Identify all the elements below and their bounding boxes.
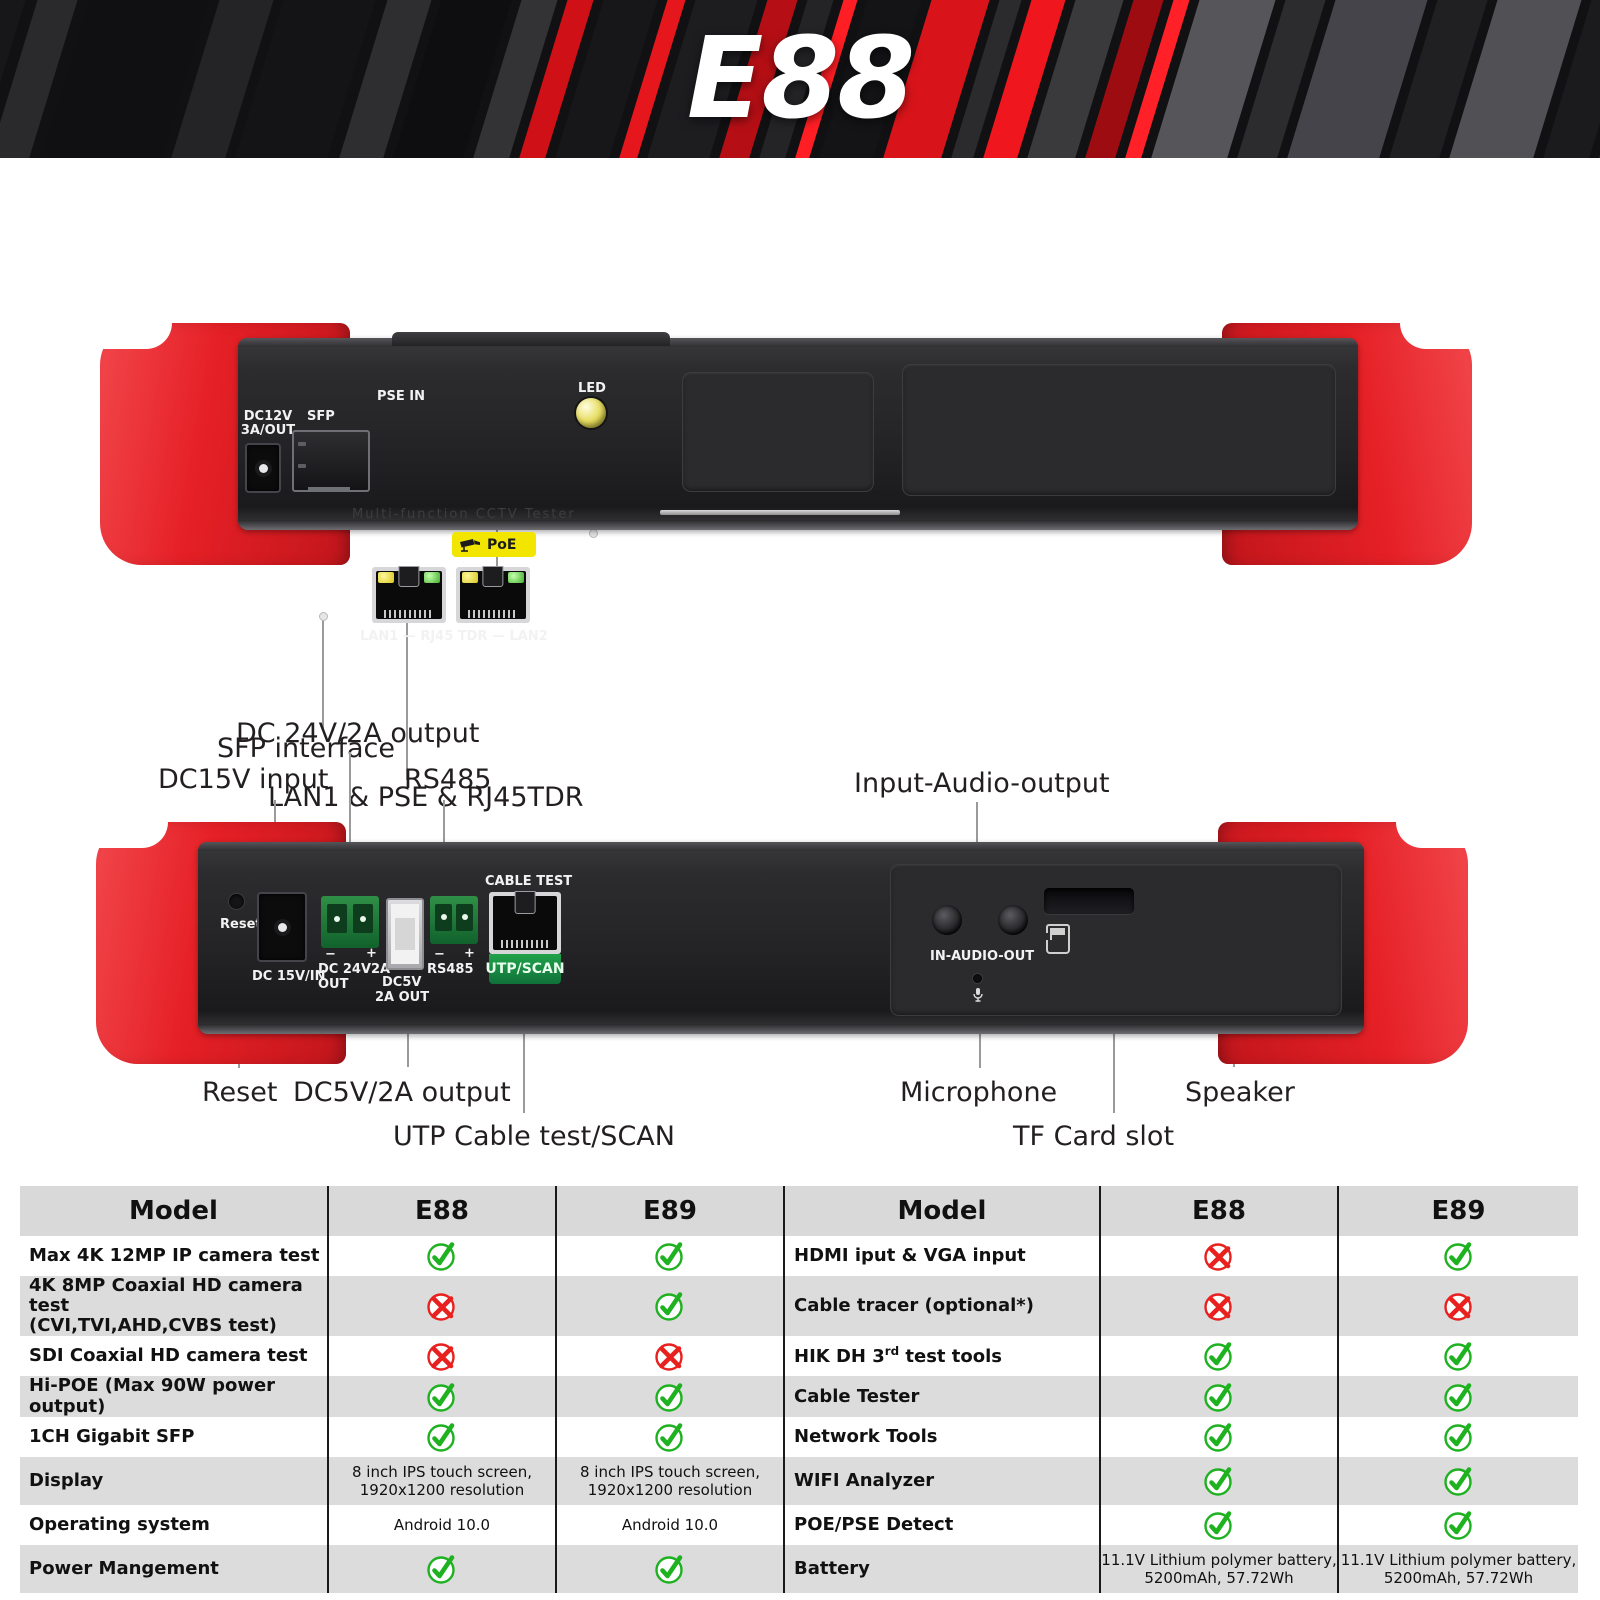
silk-dc15v: DC 15V/IN — [252, 970, 325, 984]
silk-dc5v-line1: DC5V — [382, 976, 421, 990]
table-row: 1CH Gigabit SFPNetwork Tools — [20, 1417, 1578, 1457]
lan1-rj45-port[interactable] — [372, 567, 446, 623]
table-cell-e88-right — [1100, 1457, 1338, 1505]
table-cell-e89-right — [1338, 1376, 1578, 1416]
callout-tf-card-slot: TF Card slot — [1013, 1121, 1174, 1152]
table-cell-e89-right — [1338, 1417, 1578, 1457]
table-cell-e88-right — [1100, 1236, 1338, 1276]
check-icon — [653, 1289, 687, 1323]
table-cell-e89-right — [1338, 1236, 1578, 1276]
silk-dc24v-line1: DC 24V2A — [318, 963, 390, 977]
silk-lan-row: LAN1 — RJ45 TDR — LAN2 — [360, 630, 542, 644]
lan2-led-green — [508, 572, 524, 583]
table-body: Max 4K 12MP IP camera testHDMI iput & VG… — [20, 1236, 1578, 1593]
silk-dc24v-minus: − — [325, 948, 336, 962]
table-cell-feature-left: Power Mangement — [20, 1545, 328, 1593]
check-icon — [653, 1380, 687, 1414]
table-cell-e89-right — [1338, 1457, 1578, 1505]
dc24v-terminal-block[interactable] — [321, 896, 379, 948]
audio-input-jack[interactable] — [932, 905, 962, 935]
table-cell-feature-left: 1CH Gigabit SFP — [20, 1417, 328, 1457]
silk-reset: Reset — [220, 918, 262, 932]
table-row: Hi-POE (Max 90W power output)Cable Teste… — [20, 1376, 1578, 1416]
table-cell-e89-left — [556, 1336, 784, 1376]
table-cell-e88-right — [1100, 1276, 1338, 1336]
header-e88-left: E88 — [328, 1186, 556, 1236]
table-cell-e88-left — [328, 1376, 556, 1416]
table-cell-e89-right: 11.1V Lithium polymer battery,5200mAh, 5… — [1338, 1545, 1578, 1593]
check-icon — [1442, 1420, 1476, 1454]
table-cell-feature-left: 4K 8MP Coaxial HD camera test(CVI,TVI,AH… — [20, 1276, 328, 1336]
cross-icon — [653, 1339, 687, 1373]
silk-led: LED — [578, 382, 606, 396]
table-cell-feature-right: WIFI Analyzer — [784, 1457, 1100, 1505]
poe-badge: PoE — [452, 532, 536, 557]
body-panel-bottom-right — [890, 864, 1342, 1016]
silk-dc24v-plus: + — [366, 947, 377, 961]
table-cell-feature-left: Operating system — [20, 1505, 328, 1545]
silk-cable-test: CABLE TEST — [485, 875, 572, 889]
callout-dc24v-output: DC 24V/2A output — [236, 718, 479, 749]
callout-dot-led — [589, 529, 598, 538]
table-cell-e88-right — [1100, 1376, 1338, 1416]
silk-pse-in: PSE IN — [377, 390, 425, 404]
table-cell-e88-left: 8 inch IPS touch screen,1920x1200 resolu… — [328, 1457, 556, 1505]
table-cell-feature-right: Network Tools — [784, 1417, 1100, 1457]
cable-test-latch-tab — [515, 891, 536, 914]
check-icon — [1442, 1239, 1476, 1273]
callout-input-audio-output: Input-Audio-output — [854, 768, 1110, 799]
table-cell-e89-right — [1338, 1336, 1578, 1376]
dc24v-terminal-slot-pos — [353, 904, 373, 933]
table-cell-feature-right: Battery — [784, 1545, 1100, 1593]
table-header-row: Model E88 E89 Model E88 E89 — [20, 1186, 1578, 1236]
table-cell-e88-left — [328, 1336, 556, 1376]
table-cell-feature-left: Hi-POE (Max 90W power output) — [20, 1376, 328, 1416]
audio-output-jack[interactable] — [998, 905, 1028, 935]
sfp-cage-base — [308, 487, 350, 491]
cctv-camera-icon — [459, 538, 481, 552]
lan2-led-yellow — [462, 572, 478, 583]
table-cell-feature-left: SDI Coaxial HD camera test — [20, 1336, 328, 1376]
check-icon — [1442, 1339, 1476, 1373]
table-row: Display8 inch IPS touch screen,1920x1200… — [20, 1457, 1578, 1505]
table-cell-feature-right: HIK DH 3rd test tools — [784, 1336, 1100, 1376]
callout-dc15v-input: DC15V input — [158, 764, 329, 795]
table-cell-feature-right: HDMI iput & VGA input — [784, 1236, 1100, 1276]
silk-dc24v-line2: OUT — [318, 978, 348, 992]
table-cell-e88-right — [1100, 1505, 1338, 1545]
check-icon — [1202, 1380, 1236, 1414]
sfp-interface-cage[interactable] — [292, 430, 370, 492]
table-cell-feature-right: Cable Tester — [784, 1376, 1100, 1416]
check-icon — [1442, 1464, 1476, 1498]
silver-trim-strip — [660, 510, 900, 515]
dc15v-input-jack[interactable] — [257, 892, 307, 962]
table-cell-e89-left: Android 10.0 — [556, 1505, 784, 1545]
header-e89-right: E89 — [1338, 1186, 1578, 1236]
table-cell-feature-left: Max 4K 12MP IP camera test — [20, 1236, 328, 1276]
lan2-contact-pins — [468, 610, 518, 618]
check-icon — [425, 1239, 459, 1273]
table-row: 4K 8MP Coaxial HD camera test(CVI,TVI,AH… — [20, 1276, 1578, 1336]
rs485-terminal-block[interactable] — [430, 896, 478, 944]
check-icon — [653, 1552, 687, 1586]
comparison-table: Model E88 E89 Model E88 E89 Max 4K 12MP … — [20, 1186, 1578, 1593]
header-e88-right: E88 — [1100, 1186, 1338, 1236]
lan1-contact-pins — [384, 610, 434, 618]
silk-in-audio-out: IN-AUDIO-OUT — [930, 950, 1034, 964]
hero-banner: E88 — [0, 0, 1600, 158]
comparison-table-wrap: Model E88 E89 Model E88 E89 Max 4K 12MP … — [20, 1186, 1578, 1593]
table-cell-feature-left: Display — [20, 1457, 328, 1505]
callout-utp-cable-test: UTP Cable test/SCAN — [393, 1121, 675, 1152]
body-top-edge-2 — [198, 842, 1364, 851]
silk-dc12v-line2: 3A/OUT — [237, 424, 299, 438]
lan1-led-yellow — [378, 572, 394, 583]
cross-icon — [1442, 1289, 1476, 1323]
table-cell-e88-left — [328, 1236, 556, 1276]
table-cell-e88-right — [1100, 1336, 1338, 1376]
table-row: Max 4K 12MP IP camera testHDMI iput & VG… — [20, 1236, 1578, 1276]
check-icon — [653, 1239, 687, 1273]
reset-pinhole[interactable] — [229, 894, 244, 909]
cross-icon — [425, 1339, 459, 1373]
rs485-terminal-slot-neg — [435, 904, 452, 931]
usb-contact-bar — [395, 918, 414, 951]
check-icon — [1202, 1339, 1236, 1373]
silk-rs485: RS485 — [427, 963, 474, 977]
dc12v-output-jack[interactable] — [245, 443, 281, 493]
table-row: SDI Coaxial HD camera testHIK DH 3rd tes… — [20, 1336, 1578, 1376]
callout-dot-sfp — [319, 612, 328, 621]
microphone-pinhole — [973, 974, 982, 983]
device-bottom-view: DC15V input DC 24V/2A output RS485 Input… — [0, 660, 1600, 1180]
microphone-icon — [971, 987, 985, 1003]
silk-rs485-plus: + — [464, 947, 475, 961]
check-icon — [1202, 1420, 1236, 1454]
tf-card-icon — [1046, 924, 1070, 954]
table-row: Power MangementBattery11.1V Lithium poly… — [20, 1545, 1578, 1593]
table-cell-e89-left — [556, 1276, 784, 1336]
table-cell-e89-right — [1338, 1276, 1578, 1336]
silk-sfp: SFP — [307, 410, 335, 424]
callout-speaker: Speaker — [1185, 1077, 1295, 1108]
led-indicator-lamp — [576, 398, 606, 428]
table-cell-e89-left — [556, 1236, 784, 1276]
cross-icon — [425, 1289, 459, 1323]
cable-test-rj45-port[interactable] — [489, 892, 561, 954]
body-panel-right — [902, 364, 1336, 496]
cross-icon — [1202, 1289, 1236, 1323]
embossed-brand-text: Multi-function CCTV Tester — [352, 507, 576, 522]
cable-test-contact-pins — [501, 940, 550, 949]
body-panel-center — [682, 372, 874, 492]
table-cell-e88-left — [328, 1276, 556, 1336]
table-cell-e89-left — [556, 1545, 784, 1593]
silk-dc5v-line2: 2A OUT — [375, 991, 429, 1005]
dc24v-terminal-slot-neg — [327, 904, 347, 933]
body-bottom-edge-2 — [198, 1024, 1364, 1034]
check-icon — [425, 1420, 459, 1454]
table-cell-e89-right — [1338, 1505, 1578, 1545]
table-cell-e89-left — [556, 1417, 784, 1457]
cross-icon — [1202, 1239, 1236, 1273]
check-icon — [1442, 1508, 1476, 1542]
lan2-latch-tab — [482, 566, 503, 587]
callout-microphone: Microphone — [900, 1077, 1057, 1108]
silk-dc12v-line1: DC12V — [237, 410, 299, 424]
body-ridge — [392, 332, 670, 346]
table-cell-e88-right: 11.1V Lithium polymer battery,5200mAh, 5… — [1100, 1545, 1338, 1593]
check-icon — [1202, 1508, 1236, 1542]
lan2-rj45-port[interactable] — [456, 567, 530, 623]
poe-badge-label: PoE — [487, 537, 516, 553]
lan1-latch-tab — [398, 566, 419, 587]
table-cell-feature-right: POE/PSE Detect — [784, 1505, 1100, 1545]
lan1-led-green — [424, 572, 440, 583]
check-icon — [425, 1380, 459, 1414]
tf-card-slot[interactable] — [1044, 888, 1134, 914]
utp-scan-plate: UTP/SCAN — [489, 954, 561, 984]
silk-rs485-minus: − — [434, 948, 445, 962]
table-cell-e88-left: Android 10.0 — [328, 1505, 556, 1545]
device-top-view: DC12V/3A output LAN2 & POE & RJ45TDR LED… — [0, 160, 1600, 680]
callout-rs485: RS485 — [404, 764, 491, 795]
dc5v-usb-port[interactable] — [386, 898, 424, 970]
table-cell-feature-right: Cable tracer (optional*) — [784, 1276, 1100, 1336]
check-icon — [1442, 1380, 1476, 1414]
callout-reset: Reset — [202, 1077, 277, 1108]
table-cell-e88-left — [328, 1417, 556, 1457]
utp-scan-label: UTP/SCAN — [485, 961, 564, 977]
table-cell-e88-right — [1100, 1417, 1338, 1457]
table-cell-e89-left: 8 inch IPS touch screen,1920x1200 resolu… — [556, 1457, 784, 1505]
check-icon — [1202, 1464, 1236, 1498]
table-cell-e88-left — [328, 1545, 556, 1593]
table-row: Operating systemAndroid 10.0Android 10.0… — [20, 1505, 1578, 1545]
check-icon — [425, 1552, 459, 1586]
hero-title: E88 — [0, 0, 1600, 158]
header-e89-left: E89 — [556, 1186, 784, 1236]
header-model-left: Model — [20, 1186, 328, 1236]
check-icon — [653, 1420, 687, 1454]
table-cell-e89-left — [556, 1376, 784, 1416]
rs485-terminal-slot-pos — [456, 904, 473, 931]
header-model-right: Model — [784, 1186, 1100, 1236]
callout-dc5v-output: DC5V/2A output — [293, 1077, 511, 1108]
